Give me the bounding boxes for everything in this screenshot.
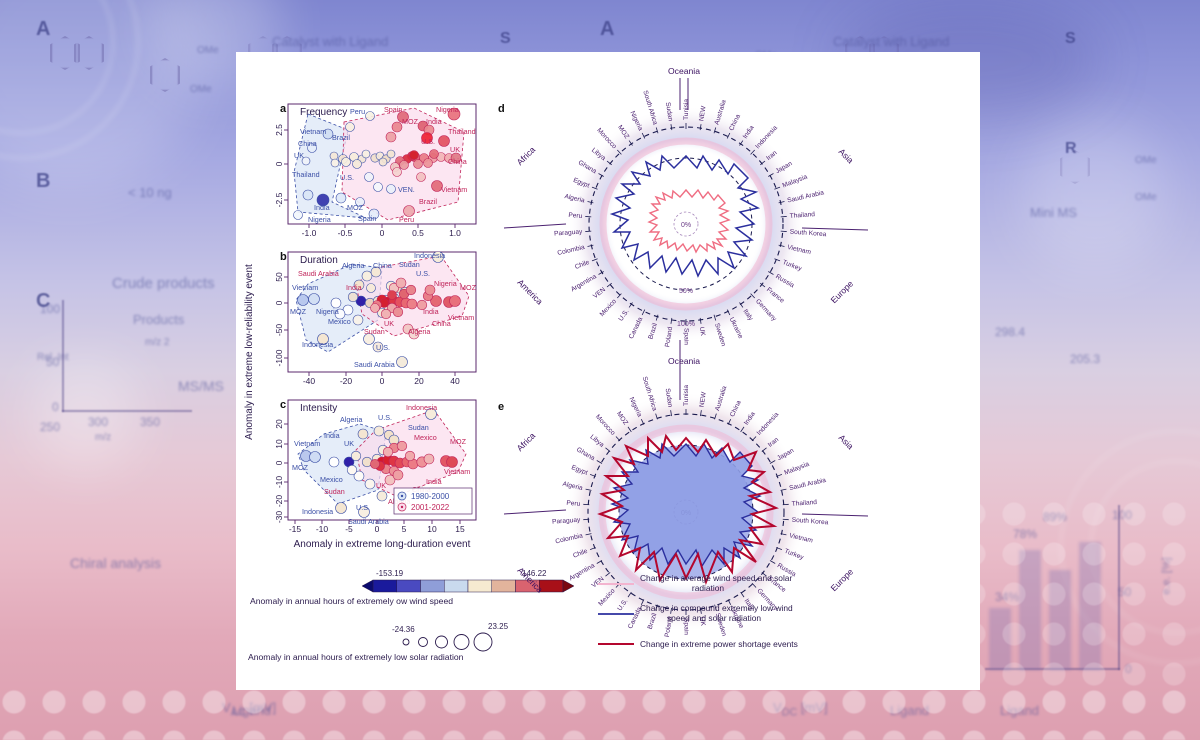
background-label-b: B <box>36 170 50 193</box>
svg-text:0.5: 0.5 <box>412 228 424 238</box>
panel-c: c Intensity <box>274 399 476 534</box>
background-dot-band <box>960 500 1200 700</box>
svg-text:U.S.: U.S. <box>416 269 430 278</box>
svg-text:Thailand: Thailand <box>292 170 320 179</box>
size-legend-caption: Anomaly in annual hours of extremely low… <box>248 652 464 662</box>
colorbar-swatch <box>444 580 468 592</box>
svg-text:China: China <box>298 139 317 148</box>
svg-text:India: India <box>324 431 340 440</box>
svg-text:15: 15 <box>455 524 465 534</box>
radar-legend-label-1b: speed and solar radiation <box>667 613 761 623</box>
legend-label-early: 1980-2000 <box>411 492 450 501</box>
svg-text:5: 5 <box>402 524 407 534</box>
background-label-r: R <box>1065 140 1077 158</box>
background-text-ome: OMe <box>190 84 212 95</box>
svg-text:U.S.: U.S. <box>378 413 392 422</box>
svg-text:0: 0 <box>274 300 284 305</box>
radar-country-label: Peru <box>568 212 583 220</box>
svg-text:Brazil: Brazil <box>419 197 437 206</box>
svg-text:Algeria: Algeria <box>340 415 362 424</box>
radar-legend-label-2: Change in extreme power shortage events <box>640 639 798 649</box>
legend-label-late: 2001-2022 <box>411 503 450 512</box>
svg-text:Africa: Africa <box>515 430 538 453</box>
svg-text:0: 0 <box>380 376 385 386</box>
radar-country-label: Tunisia <box>683 99 690 120</box>
background-label-a2: A <box>600 18 614 41</box>
figure-svg: Anomaly in extreme low-reliability event… <box>236 52 980 690</box>
svg-text:Nigeria: Nigeria <box>308 215 331 224</box>
svg-text:Vietnam: Vietnam <box>448 313 474 322</box>
svg-text:MOZ: MOZ <box>290 307 307 316</box>
svg-text:Indonesia: Indonesia <box>302 507 333 516</box>
svg-text:Saudi Arabia: Saudi Arabia <box>354 360 395 369</box>
svg-text:MOZ: MOZ <box>402 117 419 126</box>
size-legend-max-label: 23.25 <box>488 622 509 631</box>
svg-text:Sudan: Sudan <box>408 423 429 432</box>
svg-text:20: 20 <box>414 376 424 386</box>
svg-text:Saudi Arabia: Saudi Arabia <box>298 269 339 278</box>
size-legend-circle <box>454 635 469 650</box>
svg-text:Vietnam: Vietnam <box>300 127 326 136</box>
svg-text:U.S.: U.S. <box>421 137 435 146</box>
scatter-legend: 1980-2000 2001-2022 <box>394 488 472 514</box>
svg-text:UK: UK <box>344 439 354 448</box>
colorbar-swatch <box>397 580 421 592</box>
svg-text:India: India <box>314 203 330 212</box>
figure-card: Anomaly in extreme low-reliability event… <box>236 52 980 690</box>
panel-c-letter: c <box>280 399 286 411</box>
radar-country-label: Thailand <box>789 211 815 220</box>
svg-text:UK: UK <box>384 319 394 328</box>
svg-text:Asia: Asia <box>837 432 856 451</box>
svg-text:U.S.: U.S. <box>340 173 354 182</box>
panel-a: a Frequency <box>274 103 476 238</box>
background-text-ome: OMe <box>1135 192 1157 203</box>
background-text-ng: < 10 ng <box>128 185 172 200</box>
panel-e-letter: e <box>498 401 504 413</box>
radar-legend-label-1: Change in compound extremely low wind <box>640 603 793 613</box>
svg-text:UK: UK <box>376 481 386 490</box>
svg-text:Peru: Peru <box>399 215 414 224</box>
colorbar-caption: Anomaly in annual hours of extremely ow … <box>250 596 453 606</box>
svg-text:Peru: Peru <box>350 107 365 116</box>
panel-b: b Duration <box>274 251 477 386</box>
svg-text:MOZ: MOZ <box>292 463 309 472</box>
x-axis-label: Anomaly in extreme long-duration event <box>294 539 471 550</box>
background-text-minims: Mini MS <box>1030 205 1077 220</box>
panel-d-letter: d <box>498 103 505 115</box>
svg-text:Mexico: Mexico <box>320 475 343 484</box>
svg-text:2.5: 2.5 <box>274 124 284 136</box>
panel-a-letter: a <box>280 103 287 115</box>
panel-b-title: Duration <box>300 255 338 266</box>
background-text-chiral: Chiral analysis <box>70 555 161 571</box>
size-legend-group: -24.36 23.25 Anomaly in annual hours of … <box>248 622 509 662</box>
svg-text:Vietnam: Vietnam <box>441 185 467 194</box>
svg-text:China: China <box>432 319 451 328</box>
svg-text:Sudan: Sudan <box>324 487 345 496</box>
radar-legend-label-0b: radiation <box>692 583 724 593</box>
radar-country-label: Spain <box>682 328 689 345</box>
svg-text:Nigeria: Nigeria <box>436 105 459 114</box>
background-text-msms: MS/MS <box>178 378 224 394</box>
svg-text:0: 0 <box>375 524 380 534</box>
radar-legend-label-0: Change in average wind speed and solar <box>640 573 792 583</box>
background-label-a: A <box>36 18 50 41</box>
svg-text:-40: -40 <box>303 376 316 386</box>
panel-b-letter: b <box>280 251 287 263</box>
ring-label-50: 50% <box>679 288 693 295</box>
svg-text:10: 10 <box>427 524 437 534</box>
background-axis <box>62 410 192 412</box>
background-text-100: 100 <box>40 302 60 316</box>
background-text-catalyst: Catalyst with Ligand <box>833 34 949 49</box>
background-text-catalyst: Catalyst with Ligand <box>272 34 388 49</box>
size-legend-circle <box>403 639 409 645</box>
svg-text:India: India <box>423 307 439 316</box>
svg-text:-10: -10 <box>274 476 284 489</box>
background-text-mass: 298.4 <box>995 325 1025 339</box>
svg-text:0: 0 <box>274 161 284 166</box>
svg-text:0: 0 <box>380 228 385 238</box>
radar-country-label: UK <box>698 326 706 337</box>
background-text-250: 250 <box>40 420 60 434</box>
size-legend-circles <box>403 633 492 651</box>
size-legend-circle <box>474 633 492 651</box>
background-text-350: 350 <box>140 415 160 429</box>
colorbar-min-label: -153.19 <box>376 569 404 578</box>
svg-text:Vietnam: Vietnam <box>444 467 470 476</box>
svg-text:U.S.: U.S. <box>356 503 370 512</box>
background-blob <box>30 360 140 470</box>
background-text-ome: OMe <box>197 45 219 56</box>
svg-text:Vietnam: Vietnam <box>294 439 320 448</box>
svg-text:-20: -20 <box>274 495 284 508</box>
background-text-crude: Crude products <box>112 275 215 292</box>
y-axis-label: Anomaly in extreme low-reliability event <box>244 264 255 440</box>
svg-text:-20: -20 <box>340 376 353 386</box>
svg-text:India: India <box>346 283 362 292</box>
svg-text:-0.5: -0.5 <box>338 228 353 238</box>
svg-text:MOZ: MOZ <box>347 203 364 212</box>
svg-text:-100: -100 <box>274 349 284 366</box>
svg-text:-50: -50 <box>274 324 284 337</box>
background-text-mz2: m/z 2 <box>145 337 169 348</box>
svg-text:Algeria: Algeria <box>342 261 364 270</box>
background-text-ome: OMe <box>1135 155 1157 166</box>
background-text-mz: m/z <box>95 432 111 443</box>
svg-text:Europe: Europe <box>829 566 856 593</box>
svg-text:MOZ: MOZ <box>450 437 467 446</box>
radar-country-label: Thailand <box>791 499 817 508</box>
svg-text:40: 40 <box>450 376 460 386</box>
svg-text:Europe: Europe <box>829 278 856 305</box>
svg-text:Algeria: Algeria <box>408 327 430 336</box>
size-legend-circle <box>419 638 428 647</box>
svg-text:Saudi Arabia: Saudi Arabia <box>348 517 389 526</box>
svg-text:0: 0 <box>274 460 284 465</box>
svg-text:20: 20 <box>274 419 284 429</box>
svg-text:Mexico: Mexico <box>414 433 437 442</box>
svg-text:India: India <box>426 117 442 126</box>
panel-c-title: Intensity <box>300 403 337 414</box>
radar-country-label: Tunisia <box>683 385 690 406</box>
ring-label-0: 0% <box>681 222 691 229</box>
svg-text:-10: -10 <box>316 524 329 534</box>
svg-text:U.S.: U.S. <box>376 343 390 352</box>
svg-text:-5: -5 <box>345 524 353 534</box>
svg-text:10: 10 <box>274 439 284 449</box>
svg-text:UK: UK <box>450 145 460 154</box>
svg-text:1.0: 1.0 <box>449 228 461 238</box>
size-legend-min-label: -24.36 <box>392 625 415 634</box>
svg-text:Brazil: Brazil <box>332 133 350 142</box>
svg-text:Vietnam: Vietnam <box>292 283 318 292</box>
svg-text:Asia: Asia <box>837 146 856 165</box>
svg-text:UK: UK <box>294 151 304 160</box>
svg-text:VEN.: VEN. <box>398 185 415 194</box>
svg-text:-1.0: -1.0 <box>302 228 317 238</box>
colorbar-swatch <box>468 580 492 592</box>
svg-text:Indonesia: Indonesia <box>302 340 333 349</box>
colorbar-swatch <box>421 580 445 592</box>
svg-text:Africa: Africa <box>515 144 538 167</box>
svg-text:China: China <box>448 157 467 166</box>
svg-text:Sudan: Sudan <box>364 327 385 336</box>
colorbar-swatch <box>373 580 397 592</box>
svg-text:Oceania: Oceania <box>668 66 700 76</box>
size-legend-circle <box>436 636 448 648</box>
svg-text:China: China <box>373 261 392 270</box>
svg-text:-30: -30 <box>274 511 284 524</box>
svg-text:Mexico: Mexico <box>328 317 351 326</box>
background-text-50: 50 <box>46 355 59 369</box>
svg-text:Spain: Spain <box>384 105 402 114</box>
svg-text:Nigeria: Nigeria <box>316 307 339 316</box>
colorbar-swatch <box>492 580 516 592</box>
svg-text:Oceania: Oceania <box>668 356 700 366</box>
svg-text:MOZ: MOZ <box>460 283 477 292</box>
svg-text:Spain: Spain <box>358 214 376 223</box>
background-text-0: 0 <box>52 400 59 414</box>
background-text-300: 300 <box>88 415 108 429</box>
radar-country-label: Peru <box>566 500 581 508</box>
svg-text:Nigeria: Nigeria <box>434 279 457 288</box>
screenshot-root: A B C A S S R Catalyst with Ligand Catal… <box>0 0 1200 740</box>
background-text-products: Products <box>133 312 184 327</box>
svg-text:50: 50 <box>274 272 284 282</box>
background-label-s2: S <box>1065 30 1076 48</box>
svg-text:Indonesia: Indonesia <box>406 403 437 412</box>
svg-text:-15: -15 <box>289 524 302 534</box>
svg-text:America: America <box>515 277 545 307</box>
background-text-mass: 205.3 <box>1070 352 1100 366</box>
background-label-s: S <box>500 30 511 48</box>
svg-text:-2.5: -2.5 <box>274 192 284 207</box>
svg-text:Thailand: Thailand <box>448 127 476 136</box>
background-axis <box>62 300 64 412</box>
svg-text:Indonesia: Indonesia <box>414 251 445 260</box>
svg-text:Sudan: Sudan <box>399 260 420 269</box>
